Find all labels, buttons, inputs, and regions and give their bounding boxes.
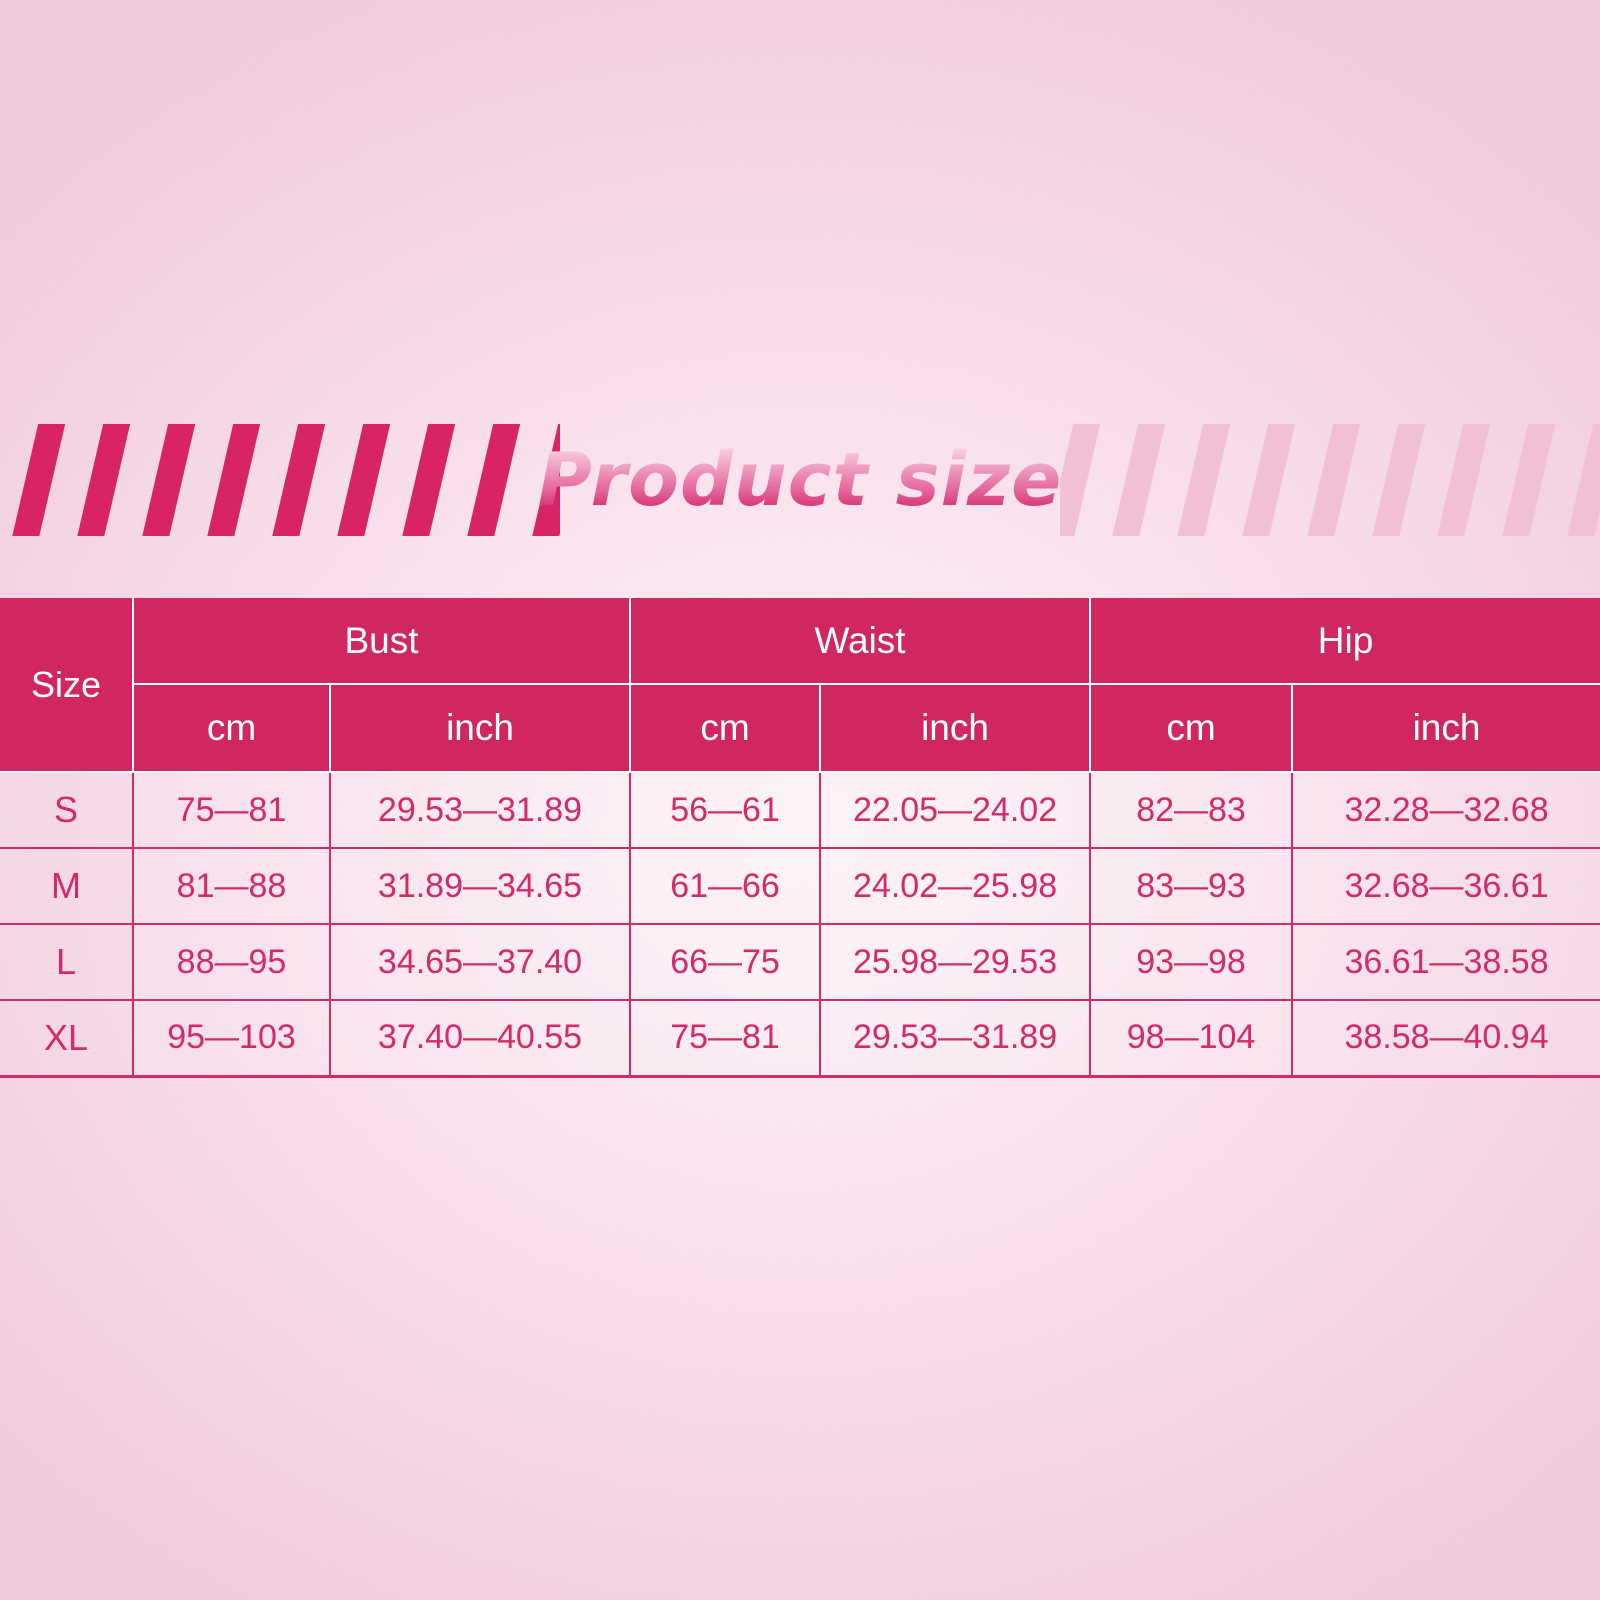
cell-hip-inch: 32.68—36.61 — [1292, 848, 1600, 924]
cell-bust-inch: 31.89—34.65 — [330, 848, 630, 924]
cell-waist-cm: 56—61 — [630, 772, 820, 848]
header-bust: Bust — [133, 598, 630, 684]
table-row: XL 95—103 37.40—40.55 75—81 29.53—31.89 … — [0, 1000, 1600, 1076]
stripe-bar-icon — [1109, 424, 1169, 536]
stripe-bar-icon — [139, 424, 199, 536]
cell-waist-inch: 29.53—31.89 — [820, 1000, 1090, 1076]
cell-size: M — [0, 848, 133, 924]
stripe-bar-icon — [269, 424, 329, 536]
cell-hip-inch: 32.28—32.68 — [1292, 772, 1600, 848]
stripe-bar-icon — [464, 424, 524, 536]
cell-waist-cm: 66—75 — [630, 924, 820, 1000]
header-hip-cm: cm — [1090, 684, 1292, 772]
header-waist: Waist — [630, 598, 1090, 684]
header-size: Size — [0, 598, 133, 772]
cell-bust-inch: 37.40—40.55 — [330, 1000, 630, 1076]
table-row: L 88—95 34.65—37.40 66—75 25.98—29.53 93… — [0, 924, 1600, 1000]
stripe-bar-icon — [74, 424, 134, 536]
stripe-bar-icon — [1304, 424, 1364, 536]
header-waist-cm: cm — [630, 684, 820, 772]
cell-hip-inch: 38.58—40.94 — [1292, 1000, 1600, 1076]
cell-bust-inch: 29.53—31.89 — [330, 772, 630, 848]
cell-hip-cm: 98—104 — [1090, 1000, 1292, 1076]
table-row: M 81—88 31.89—34.65 61—66 24.02—25.98 83… — [0, 848, 1600, 924]
cell-bust-inch: 34.65—37.40 — [330, 924, 630, 1000]
table-row: S 75—81 29.53—31.89 56—61 22.05—24.02 82… — [0, 772, 1600, 848]
stripe-bar-icon — [334, 424, 394, 536]
header-hip-inch: inch — [1292, 684, 1600, 772]
cell-hip-cm: 93—98 — [1090, 924, 1292, 1000]
header-bust-inch: inch — [330, 684, 630, 772]
cell-waist-inch: 24.02—25.98 — [820, 848, 1090, 924]
cell-bust-cm: 81—88 — [133, 848, 330, 924]
stripe-bar-icon — [1369, 424, 1429, 536]
header-row-groups: Size Bust Waist Hip — [0, 598, 1600, 684]
cell-bust-cm: 88—95 — [133, 924, 330, 1000]
cell-hip-cm: 83—93 — [1090, 848, 1292, 924]
header-row-units: cm inch cm inch cm inch — [0, 684, 1600, 772]
cell-waist-inch: 22.05—24.02 — [820, 772, 1090, 848]
stripe-bar-icon — [204, 424, 264, 536]
cell-size: S — [0, 772, 133, 848]
table-header: Size Bust Waist Hip cm inch cm inch cm i… — [0, 598, 1600, 772]
stripe-bar-icon — [1499, 424, 1559, 536]
stripe-bar-icon — [1434, 424, 1494, 536]
cell-hip-cm: 82—83 — [1090, 772, 1292, 848]
header-waist-inch: inch — [820, 684, 1090, 772]
stripe-bar-icon — [1060, 424, 1103, 536]
table-body: S 75—81 29.53—31.89 56—61 22.05—24.02 82… — [0, 772, 1600, 1076]
size-table: Size Bust Waist Hip cm inch cm inch cm i… — [0, 598, 1600, 1078]
cell-bust-cm: 75—81 — [133, 772, 330, 848]
left-stripes-icon — [0, 424, 560, 536]
cell-bust-cm: 95—103 — [133, 1000, 330, 1076]
stripe-bar-icon — [1239, 424, 1299, 536]
cell-waist-cm: 61—66 — [630, 848, 820, 924]
stripe-bar-icon — [9, 424, 69, 536]
cell-waist-cm: 75—81 — [630, 1000, 820, 1076]
header-hip: Hip — [1090, 598, 1600, 684]
cell-size: L — [0, 924, 133, 1000]
stripe-bar-icon — [1564, 424, 1600, 536]
size-chart: Size Bust Waist Hip cm inch cm inch cm i… — [0, 598, 1600, 1078]
cell-hip-inch: 36.61—38.58 — [1292, 924, 1600, 1000]
stripe-bar-icon — [529, 424, 560, 536]
right-stripes-icon — [1060, 424, 1600, 536]
stripe-bar-icon — [0, 424, 3, 536]
cell-size: XL — [0, 1000, 133, 1076]
stripe-bar-icon — [1174, 424, 1234, 536]
title-banner — [0, 424, 1600, 536]
header-bust-cm: cm — [133, 684, 330, 772]
stripe-bar-icon — [399, 424, 459, 536]
cell-waist-inch: 25.98—29.53 — [820, 924, 1090, 1000]
